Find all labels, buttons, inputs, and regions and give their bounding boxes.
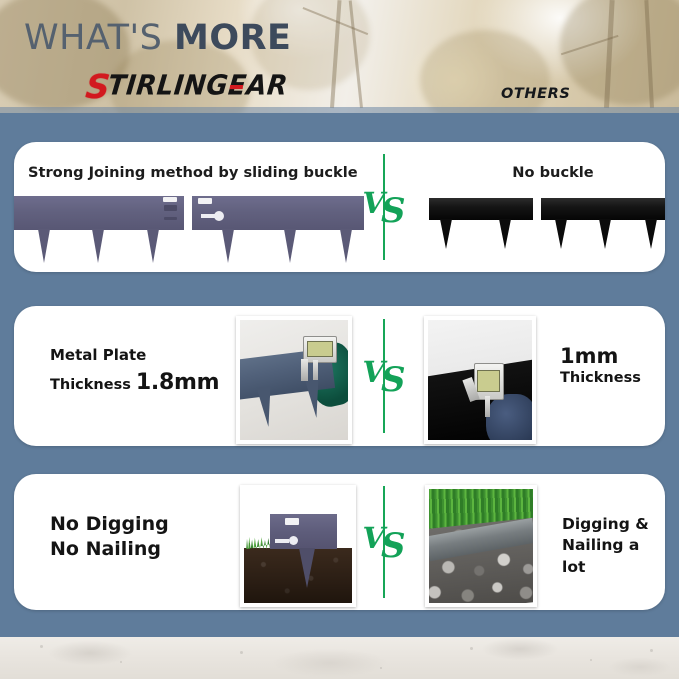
comparison-row-buckle: Strong Joining method by sliding buckle … <box>14 142 665 272</box>
photo-inner <box>429 489 533 603</box>
buckle-slot-icon <box>164 217 177 220</box>
caliper-jaw <box>301 359 308 381</box>
panel-spike <box>440 219 452 249</box>
brand-logo-post: AR <box>245 70 289 102</box>
vs-label: VS <box>362 359 405 393</box>
panel-body <box>541 198 665 220</box>
foliage-blob <box>560 0 679 105</box>
caliper-jaw <box>485 396 490 418</box>
brand-logo-e: E <box>226 70 248 102</box>
page-title: WHAT'S MORE <box>24 18 291 58</box>
digital-caliper <box>300 330 343 383</box>
row2-left-prefix: Thickness <box>50 377 136 393</box>
stone-speck <box>470 647 473 650</box>
purple-edging-panel-b <box>192 196 364 266</box>
panel-body <box>14 196 184 230</box>
stone-speck <box>240 651 243 654</box>
vs-divider: VS <box>349 306 419 446</box>
caliper-jaw <box>313 360 317 380</box>
black-edging-panel-b <box>541 198 665 264</box>
diagram-soil <box>244 548 352 603</box>
header-divider <box>0 107 679 113</box>
row1-left-title: Strong Joining method by sliding buckle <box>28 164 358 181</box>
panel-body <box>429 198 533 220</box>
panel-spike <box>222 229 234 263</box>
panel-spike <box>555 219 567 249</box>
page-title-bold: MORE <box>174 18 291 58</box>
row2-right-photo <box>424 316 536 444</box>
vs-s: S <box>381 526 404 566</box>
header-banner: WHAT'S MORE STIRLINGEAR OTHERS <box>0 0 679 113</box>
panel-spike <box>38 229 50 263</box>
panel-spike-in-soil <box>299 548 315 588</box>
comparison-row-install: No Digging No Nailing VS <box>14 474 665 610</box>
page-title-light: WHAT'S <box>24 18 174 58</box>
brand-logo-pre: TIRLING <box>106 70 230 102</box>
caliper-display <box>307 341 333 357</box>
vs-divider: VS <box>349 142 419 272</box>
purple-panel-cross-section <box>270 514 337 549</box>
photo-inner <box>428 320 532 440</box>
brand-logo: STIRLINGEAR <box>86 70 287 102</box>
screw-shaft-icon <box>275 539 289 543</box>
screw-shaft-icon <box>201 214 216 218</box>
diagram-inner <box>244 489 352 603</box>
others-label: OTHERS <box>501 86 570 102</box>
bottom-stone-band <box>0 637 679 679</box>
brand-logo-wordmark: TIRLINGEAR <box>106 72 289 100</box>
vs-v: V <box>362 355 383 389</box>
row2-left-photo <box>236 316 352 444</box>
vs-s: S <box>381 191 404 231</box>
photo-inner <box>240 320 348 440</box>
row3-right-line2: Nailing a lot <box>562 535 665 578</box>
row3-right-line1: Digging & <box>562 514 665 535</box>
stone-speck <box>120 661 122 663</box>
row3-left-diagram <box>240 485 356 607</box>
row3-left-line2: No Nailing <box>50 537 169 562</box>
row3-left-text: No Digging No Nailing <box>50 512 169 563</box>
vs-v: V <box>362 521 383 555</box>
buckle-slot-icon <box>164 205 177 211</box>
stone-speck <box>40 645 43 648</box>
vs-label: VS <box>362 525 405 559</box>
comparison-infographic: WHAT'S MORE STIRLINGEAR OTHERS Strong Jo… <box>0 0 679 679</box>
digital-caliper <box>465 351 511 418</box>
black-edging-panel-a <box>429 198 533 264</box>
vs-s: S <box>381 360 404 400</box>
buckle-tab-icon <box>163 197 177 202</box>
buckle-tab-icon <box>285 518 299 525</box>
purple-edging-panel-a <box>14 196 184 266</box>
comparison-row-thickness: Metal Plate Thickness 1.8mm VS <box>14 306 665 446</box>
panel-spike <box>284 229 296 263</box>
panel-spike <box>147 229 159 263</box>
row2-left-line2: Thickness 1.8mm <box>50 370 219 395</box>
caliper-display <box>477 370 500 392</box>
buckle-tab-icon <box>198 198 212 204</box>
panel-spike <box>599 219 611 249</box>
stone-speck <box>380 667 382 669</box>
row3-right-text: Digging & Nailing a lot <box>562 514 665 578</box>
vs-label: VS <box>362 190 405 224</box>
row3-right-photo <box>425 485 537 607</box>
row2-left-value: 1.8mm <box>136 370 219 395</box>
row3-left-line1: No Digging <box>50 512 169 537</box>
vs-divider: VS <box>349 474 419 610</box>
panel-spike <box>645 219 657 249</box>
row2-right-line2: Thickness <box>560 370 641 386</box>
stone-speck <box>590 659 592 661</box>
panel-spike <box>92 229 104 263</box>
row2-right-line1: 1mm <box>560 344 618 368</box>
row1-right-title: No buckle <box>428 164 678 181</box>
stone-speck <box>650 649 653 652</box>
row2-left-line1: Metal Plate <box>50 346 146 364</box>
vs-v: V <box>362 186 383 220</box>
panel-spike <box>499 219 511 249</box>
